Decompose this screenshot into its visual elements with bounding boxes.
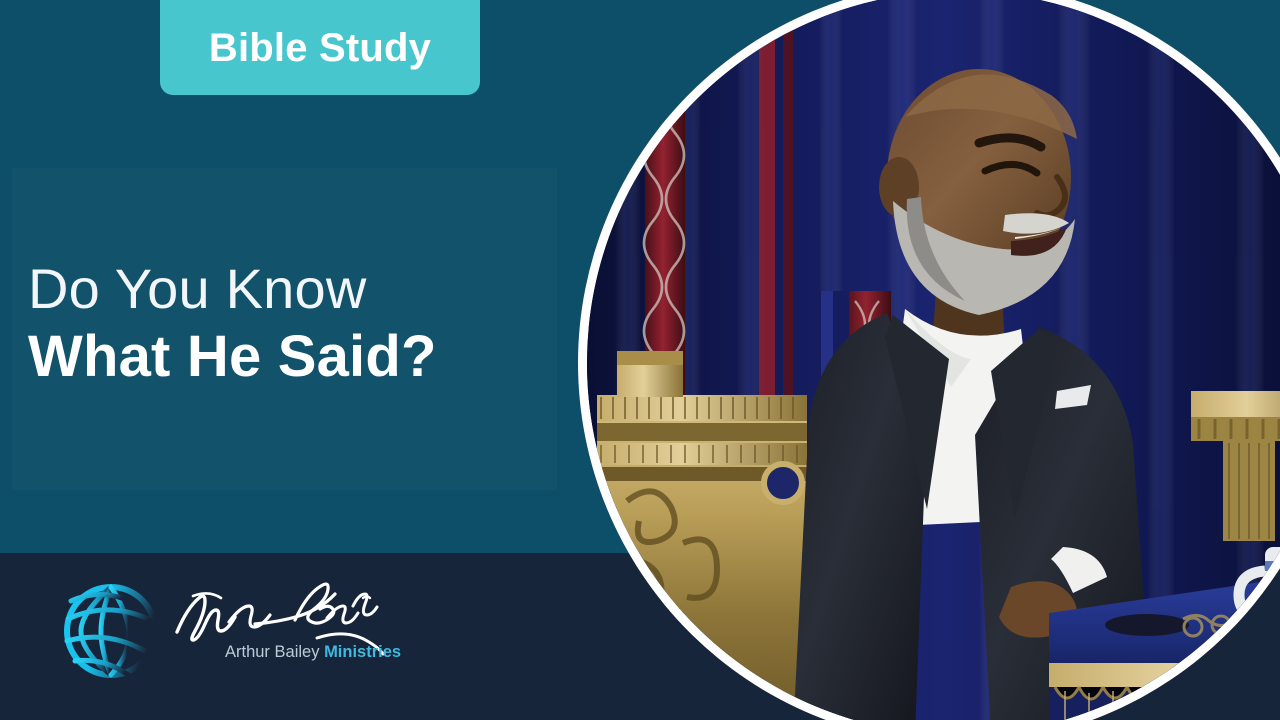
title-line-2: What He Said? (28, 325, 548, 390)
globe-icon (55, 575, 167, 687)
speaker-photo-ring (578, 0, 1280, 720)
logo-wordmark: Arthur Bailey Ministries (167, 570, 387, 685)
logo-name: Arthur Bailey Ministries (225, 644, 401, 661)
category-badge-label: Bible Study (209, 28, 431, 68)
speaker-photo (587, 0, 1280, 720)
logo-name-accent: Ministries (324, 643, 401, 661)
speaker-photo-illustration (587, 0, 1280, 720)
page-title: Do You Know What He Said? (28, 258, 548, 390)
brand-logo: Arthur Bailey Ministries (55, 570, 385, 685)
logo-name-primary: Arthur Bailey (225, 643, 319, 661)
category-badge: Bible Study (160, 0, 480, 95)
title-line-1: Do You Know (28, 258, 548, 321)
thumbnail-canvas: Bible Study Do You Know What He Said? (0, 0, 1280, 720)
